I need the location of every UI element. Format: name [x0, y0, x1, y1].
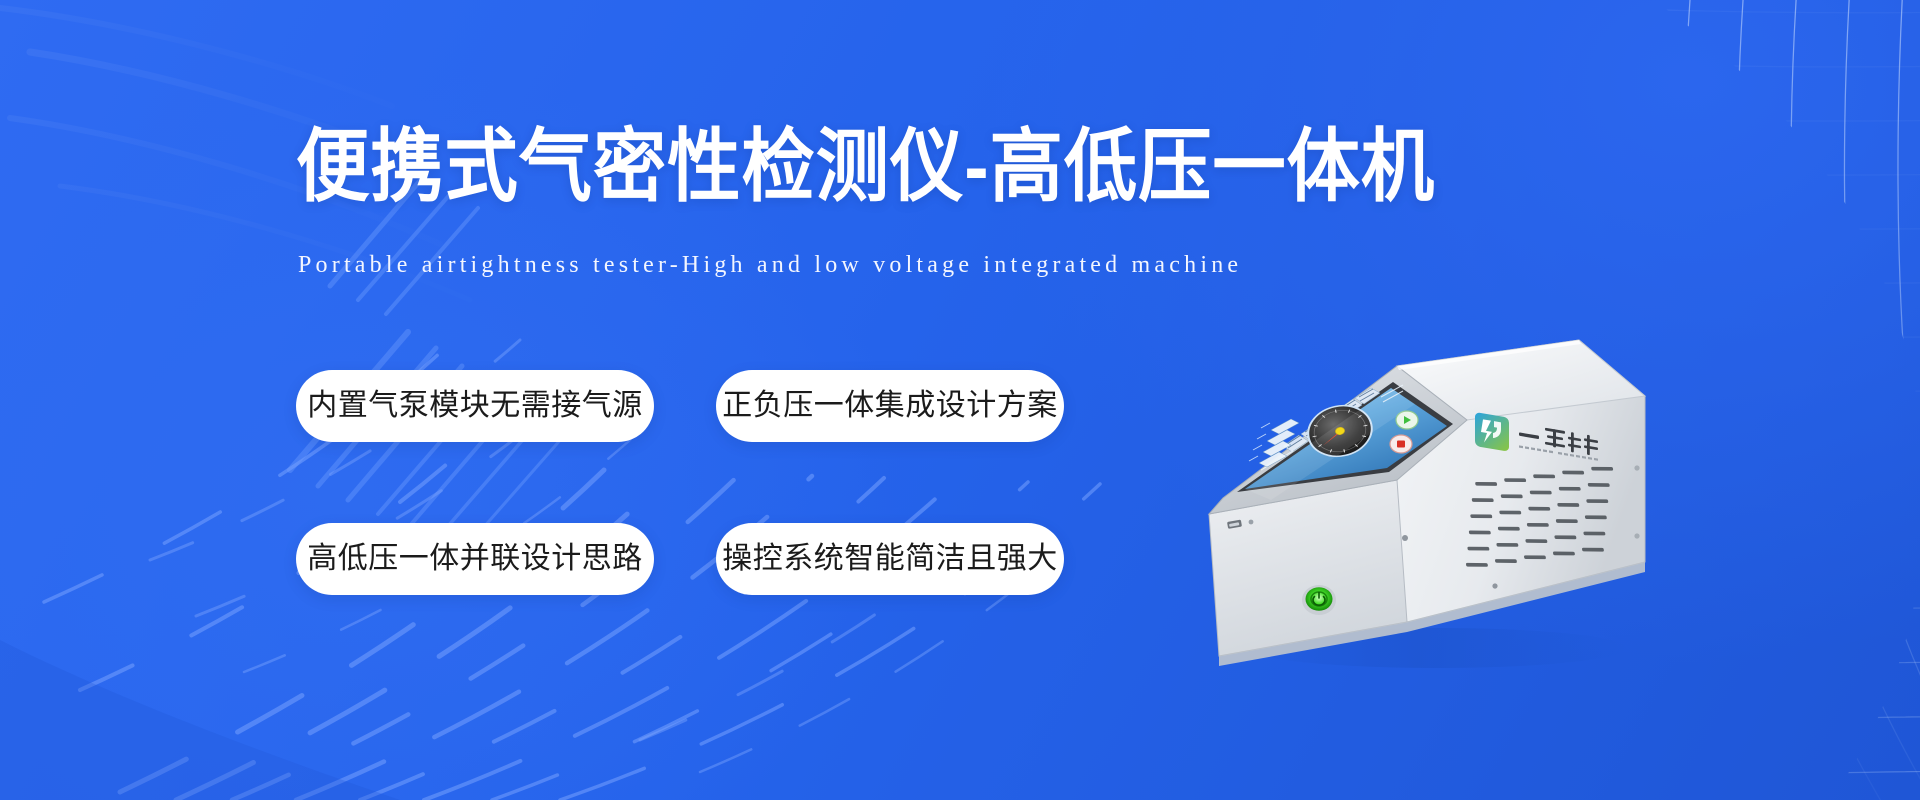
product-image — [1175, 300, 1675, 700]
feature-pill[interactable]: 内置气泵模块无需接气源 — [296, 370, 654, 442]
page-subtitle: Portable airtightness tester-High and lo… — [298, 252, 1628, 279]
side-screw-rear — [1634, 465, 1639, 470]
front-screw — [1249, 520, 1254, 525]
feature-pill[interactable]: 操控系统智能简洁且强大 — [716, 523, 1064, 595]
feature-pill-row: 高低压一体并联设计思路 操控系统智能简洁且强大 — [296, 523, 1126, 595]
feature-pill-row: 内置气泵模块无需接气源 正负压一体集成设计方案 — [296, 370, 1126, 442]
banner-content: 便携式气密性检测仪-高低压一体机 Portable airtightness t… — [0, 0, 1920, 800]
promo-banner: 便携式气密性检测仪-高低压一体机 Portable airtightness t… — [0, 0, 1920, 800]
side-screw-rear-low — [1634, 533, 1639, 538]
page-title: 便携式气密性检测仪-高低压一体机 — [296, 124, 1623, 210]
power-button[interactable] — [1302, 585, 1336, 615]
logo-mark — [1475, 412, 1509, 452]
stop-button[interactable] — [1390, 435, 1412, 453]
feature-pill[interactable]: 高低压一体并联设计思路 — [296, 523, 654, 595]
feature-pill-list: 内置气泵模块无需接气源 正负压一体集成设计方案 高低压一体并联设计思路 操控系统… — [296, 370, 1126, 595]
side-screw-top — [1402, 535, 1408, 541]
feature-pill[interactable]: 正负压一体集成设计方案 — [716, 370, 1064, 442]
side-screw-bottom — [1492, 583, 1497, 588]
